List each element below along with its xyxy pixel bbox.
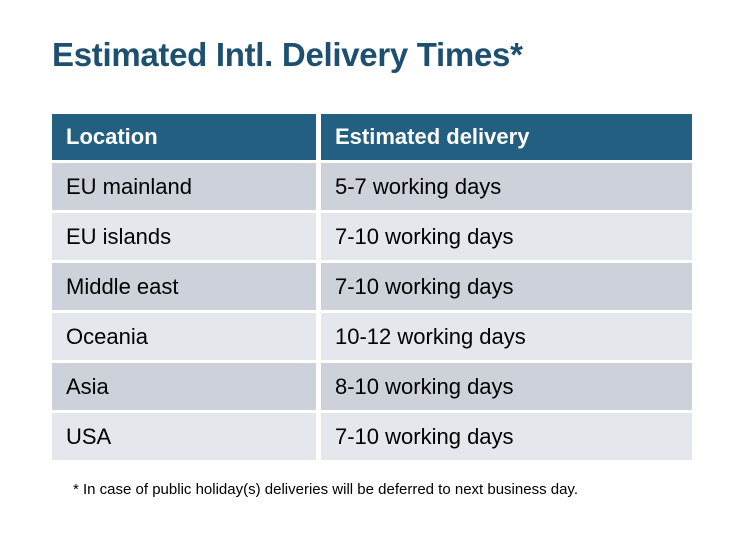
cell-delivery: 5-7 working days	[321, 163, 692, 210]
table-row: EU mainland 5-7 working days	[52, 163, 692, 210]
cell-location: EU mainland	[52, 163, 316, 210]
cell-location: Middle east	[52, 263, 316, 310]
cell-location: EU islands	[52, 213, 316, 260]
delivery-times-table: Location Estimated delivery EU mainland …	[52, 114, 692, 460]
cell-delivery: 7-10 working days	[321, 213, 692, 260]
table-header-row: Location Estimated delivery	[52, 114, 692, 160]
table-row: USA 7-10 working days	[52, 413, 692, 460]
cell-location: USA	[52, 413, 316, 460]
cell-delivery: 8-10 working days	[321, 363, 692, 410]
footnote-text: * In case of public holiday(s) deliverie…	[73, 481, 578, 498]
column-header-location: Location	[52, 114, 316, 160]
table-row: EU islands 7-10 working days	[52, 213, 692, 260]
table-row: Middle east 7-10 working days	[52, 263, 692, 310]
cell-delivery: 7-10 working days	[321, 413, 692, 460]
table-row: Asia 8-10 working days	[52, 363, 692, 410]
page-title: Estimated Intl. Delivery Times*	[52, 36, 523, 74]
delivery-times-panel: Estimated Intl. Delivery Times* Location…	[0, 0, 745, 536]
cell-delivery: 10-12 working days	[321, 313, 692, 360]
cell-location: Asia	[52, 363, 316, 410]
cell-delivery: 7-10 working days	[321, 263, 692, 310]
column-header-estimated-delivery: Estimated delivery	[321, 114, 692, 160]
cell-location: Oceania	[52, 313, 316, 360]
table-row: Oceania 10-12 working days	[52, 313, 692, 360]
